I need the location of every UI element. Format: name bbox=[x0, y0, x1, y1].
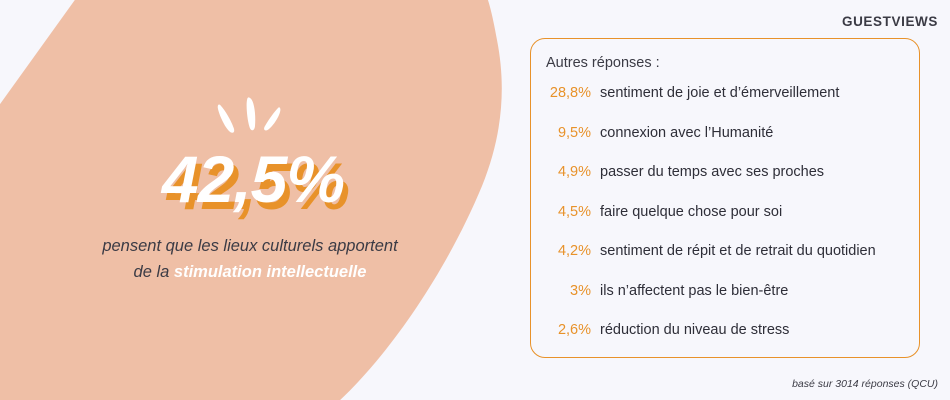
answer-percentage: 4,5% bbox=[539, 204, 591, 220]
answer-label: passer du temps avec ses proches bbox=[591, 164, 919, 180]
list-item: 4,2% sentiment de répit et de retrait du… bbox=[531, 243, 919, 283]
answer-percentage: 28,8% bbox=[539, 85, 591, 101]
hero-caption-line1: pensent que les lieux culturels apporten… bbox=[102, 237, 397, 255]
other-answers-list: 28,8% sentiment de joie et d’émerveillem… bbox=[531, 85, 919, 362]
hero-caption-emphasis: stimulation intellectuelle bbox=[174, 263, 367, 281]
sparkle-petal-center bbox=[247, 97, 256, 130]
answer-label: réduction du niveau de stress bbox=[591, 322, 919, 338]
list-item: 9,5% connexion avec l’Humanité bbox=[531, 125, 919, 165]
answer-percentage: 3% bbox=[539, 283, 591, 299]
sparkle-burst-icon bbox=[212, 96, 288, 140]
answer-percentage: 2,6% bbox=[539, 322, 591, 338]
answer-label: faire quelque chose pour soi bbox=[591, 204, 919, 220]
hero-caption-line2-prefix: de la bbox=[134, 263, 174, 281]
list-item: 2,6% réduction du niveau de stress bbox=[531, 322, 919, 362]
answer-label: connexion avec l’Humanité bbox=[591, 125, 919, 141]
answer-percentage: 4,2% bbox=[539, 243, 591, 259]
headline-stat-percentage: 42,5% bbox=[0, 146, 500, 212]
footnote-source: basé sur 3014 réponses (QCU) bbox=[792, 378, 938, 390]
brand-logo: GUESTVIEWS bbox=[842, 14, 938, 29]
list-item: 3% ils n’affectent pas le bien-être bbox=[531, 283, 919, 323]
answer-label: sentiment de joie et d’émerveillement bbox=[591, 85, 919, 101]
other-answers-panel: Autres réponses : 28,8% sentiment de joi… bbox=[530, 38, 920, 358]
sparkle-petal-right bbox=[264, 107, 280, 130]
answer-label: ils n’affectent pas le bien-être bbox=[591, 283, 919, 299]
list-item: 4,9% passer du temps avec ses proches bbox=[531, 164, 919, 204]
sparkle-petal-left bbox=[218, 105, 234, 133]
answer-percentage: 4,9% bbox=[539, 164, 591, 180]
other-answers-title: Autres réponses : bbox=[531, 55, 919, 71]
hero-caption: pensent que les lieux culturels apporten… bbox=[50, 234, 450, 285]
list-item: 4,5% faire quelque chose pour soi bbox=[531, 204, 919, 244]
hero-block: 42,5% pensent que les lieux culturels ap… bbox=[0, 96, 500, 285]
list-item: 28,8% sentiment de joie et d’émerveillem… bbox=[531, 85, 919, 125]
answer-label: sentiment de répit et de retrait du quot… bbox=[591, 243, 919, 259]
answer-percentage: 9,5% bbox=[539, 125, 591, 141]
